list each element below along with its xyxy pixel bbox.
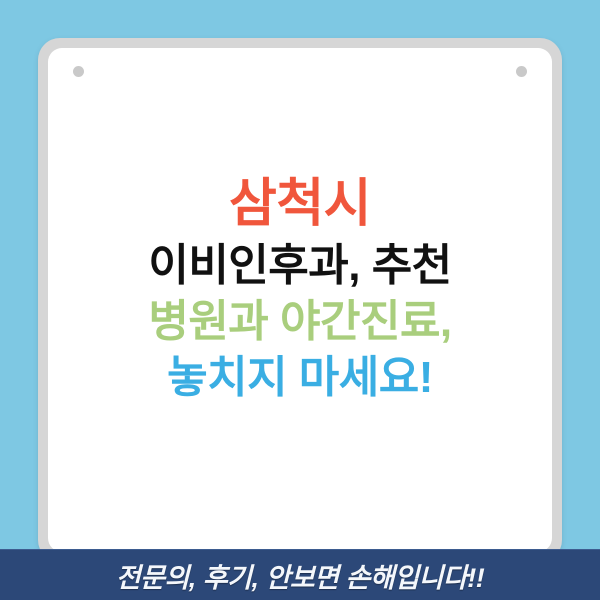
headline-line-specialty: 이비인후과, 추천 [48, 244, 552, 288]
headline-line-city: 삼척시 [48, 178, 552, 230]
headline-line-call-to-action: 놓치지 마세요! [48, 356, 552, 400]
screw-dot-icon-right [516, 66, 527, 77]
bottom-banner: 전문의, 후기, 안보면 손해입니다!! [0, 549, 600, 600]
plaque-frame: 삼척시 이비인후과, 추천 병원과 야간진료, 놓치지 마세요! [38, 38, 562, 562]
headline-line-hospital-night-care: 병원과 야간진료, [48, 300, 552, 344]
screw-dot-icon-left [73, 66, 84, 77]
poster-canvas: 삼척시 이비인후과, 추천 병원과 야간진료, 놓치지 마세요! 전문의, 후기… [0, 0, 600, 600]
plaque-surface: 삼척시 이비인후과, 추천 병원과 야간진료, 놓치지 마세요! [48, 48, 552, 552]
bottom-banner-text: 전문의, 후기, 안보면 손해입니다!! [116, 556, 484, 595]
headline-block: 삼척시 이비인후과, 추천 병원과 야간진료, 놓치지 마세요! [48, 178, 552, 400]
